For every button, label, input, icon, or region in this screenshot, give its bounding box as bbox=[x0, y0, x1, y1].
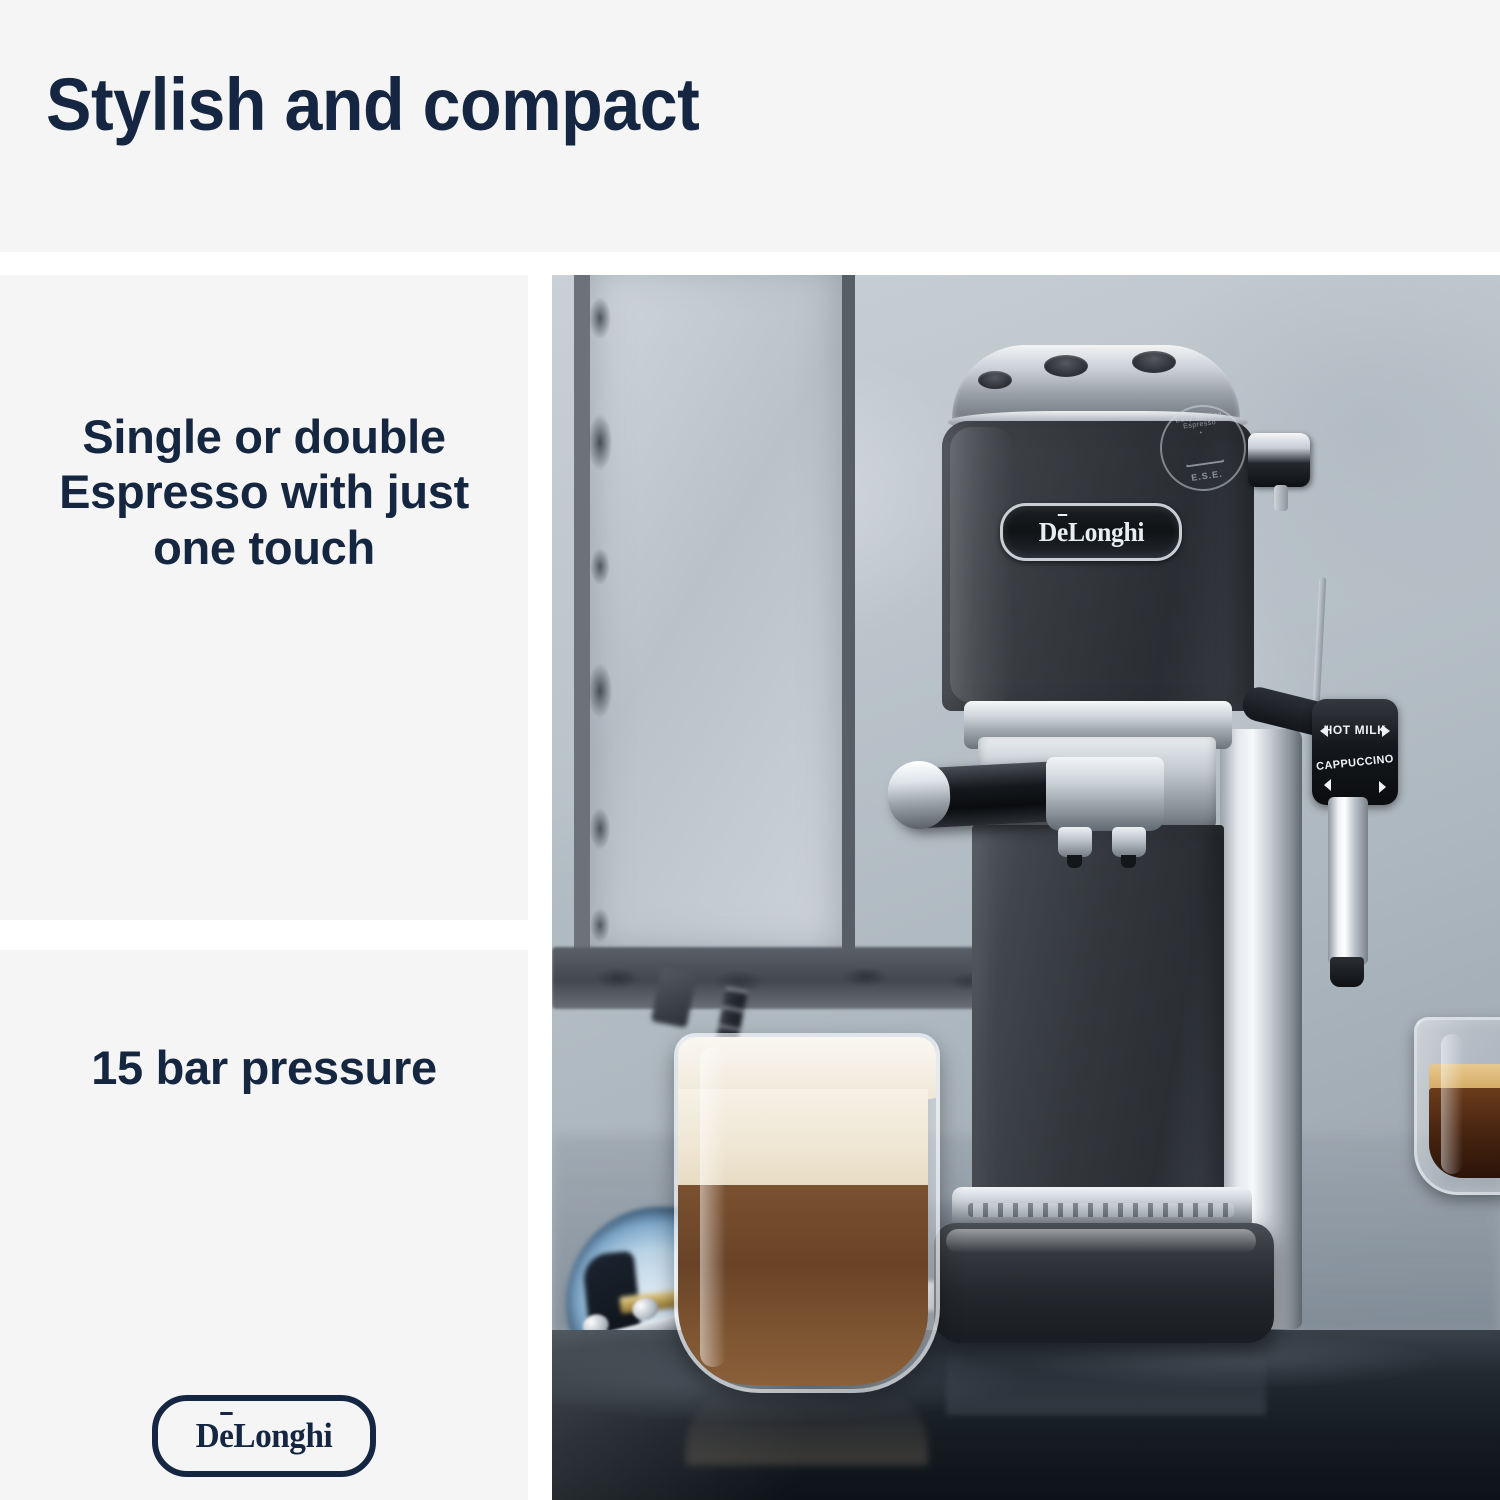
machine-button-1[interactable] bbox=[978, 371, 1012, 389]
brand-name-pre: D bbox=[196, 1416, 220, 1455]
portafilter-spout-right bbox=[1112, 827, 1146, 857]
product-photograph: DeLonghi Easy Serving Espresso E.S.E. CL… bbox=[552, 275, 1500, 1500]
guitar-headstock bbox=[651, 966, 697, 1028]
machine-base-reflection bbox=[946, 1339, 1266, 1415]
cappuccino-reflection bbox=[686, 1387, 928, 1465]
espresso-machine: DeLonghi Easy Serving Espresso E.S.E. CL… bbox=[924, 327, 1444, 1387]
product-feature-page: Stylish and compact Single or double Esp… bbox=[0, 0, 1500, 1500]
espresso-coffee bbox=[1429, 1088, 1500, 1178]
espresso-crema bbox=[1429, 1064, 1500, 1090]
feature-column: Single or double Espresso with just one … bbox=[0, 275, 528, 1500]
feature-text-pressure: 15 bar pressure bbox=[50, 1040, 478, 1095]
machine-brand-post: Longhi bbox=[1068, 517, 1144, 547]
header-band: Stylish and compact bbox=[0, 0, 1500, 252]
steam-knob-stem bbox=[1274, 485, 1288, 511]
cappuccino-glass-highlight bbox=[700, 1047, 726, 1367]
steam-wand-selector[interactable]: HOT MILK CAPPUCCINO bbox=[1312, 699, 1398, 805]
cappuccino-glass bbox=[674, 1033, 940, 1393]
portafilter-basket bbox=[1046, 757, 1164, 831]
machine-button-single-espresso[interactable] bbox=[1044, 355, 1088, 377]
steam-wand-pipe bbox=[1313, 577, 1327, 705]
cappuccino-label: CAPPUCCINO bbox=[1312, 753, 1399, 774]
mirror-ornament bbox=[586, 275, 614, 953]
brand-name-post: Longhi bbox=[234, 1416, 333, 1455]
ese-badge-symbol bbox=[1181, 428, 1225, 467]
portafilter-nozzle-left bbox=[1067, 855, 1082, 868]
machine-brand-badge: DeLonghi bbox=[1000, 503, 1182, 561]
machine-head-highlight bbox=[950, 427, 1014, 703]
machine-brand-badge-text: DeLonghi bbox=[1038, 517, 1143, 548]
machine-button-double-espresso[interactable] bbox=[1132, 351, 1176, 373]
hot-milk-label: HOT MILK bbox=[1312, 723, 1398, 737]
espresso-glass-highlight bbox=[1441, 1034, 1463, 1174]
machine-base-highlight bbox=[946, 1229, 1256, 1253]
ornate-mirror-frame bbox=[574, 275, 855, 953]
steam-wand-tip bbox=[1330, 957, 1364, 987]
delonghi-logo-text: DeLonghi bbox=[196, 1416, 333, 1456]
brand-name-macron: e bbox=[219, 1416, 233, 1455]
cappuccino-arrow-left-icon bbox=[1324, 779, 1331, 791]
machine-brand-macron: e bbox=[1056, 517, 1067, 547]
portafilter-spout-left bbox=[1058, 827, 1092, 857]
machine-brand-pre: D bbox=[1038, 517, 1056, 547]
portafilter-nozzle-right bbox=[1121, 855, 1136, 868]
drip-tray-grid bbox=[968, 1203, 1234, 1217]
delonghi-logo: DeLonghi bbox=[152, 1395, 376, 1477]
espresso-glass bbox=[1414, 1017, 1500, 1195]
feature-panel-espresso: Single or double Espresso with just one … bbox=[0, 275, 528, 920]
cappuccino-arrow-right-icon bbox=[1379, 781, 1386, 793]
steam-knob[interactable] bbox=[1248, 433, 1310, 487]
steam-wand-tube bbox=[1328, 797, 1368, 965]
page-title: Stylish and compact bbox=[46, 68, 699, 142]
feature-text-espresso: Single or double Espresso with just one … bbox=[50, 409, 478, 575]
